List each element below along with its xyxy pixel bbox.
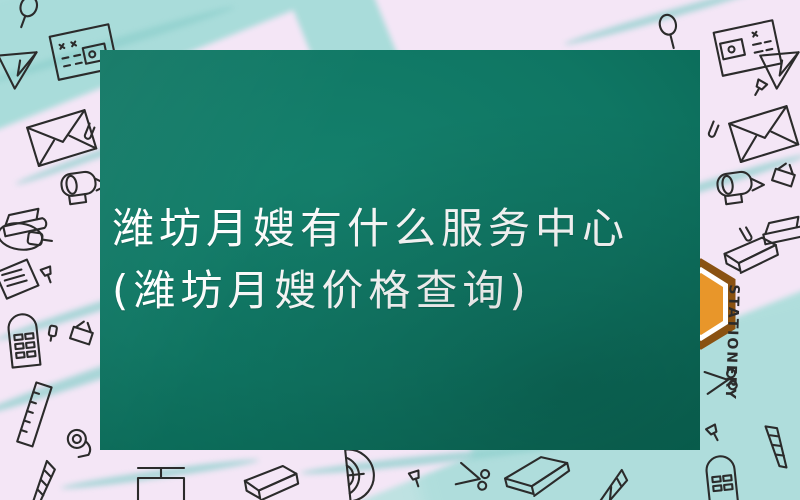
- magnifier-icon: [654, 12, 690, 54]
- poster-canvas: STATIONERY 潍坊月嫂有什么服务中心 (潍坊月嫂价格查询): [0, 0, 800, 500]
- paper-clip-icon: [702, 118, 724, 144]
- scissors-icon: [452, 460, 492, 494]
- protractor-icon: [334, 444, 390, 500]
- push-pin-icon: [44, 322, 62, 344]
- ruler-icon: [12, 380, 60, 452]
- push-pin-icon: [748, 76, 774, 102]
- paper-plane-icon: [0, 40, 50, 96]
- notebook-icon: [238, 462, 308, 500]
- calculator-icon: [700, 452, 748, 500]
- pencil-icon: [758, 418, 800, 474]
- push-pin-icon: [406, 466, 430, 492]
- title-card: 潍坊月嫂有什么服务中心 (潍坊月嫂价格查询): [100, 50, 700, 450]
- desk-lamp-icon: [116, 452, 206, 500]
- push-pin-icon: [704, 420, 728, 446]
- envelope-icon: [728, 106, 800, 164]
- binder-clip-icon: [66, 318, 100, 350]
- binder-clip-icon: [768, 160, 800, 192]
- pencil-icon: [24, 458, 70, 500]
- paper-clip-icon: [78, 120, 100, 146]
- stationery-label: STATIONERY: [704, 283, 742, 388]
- notebook-icon: [500, 452, 580, 500]
- pencil-icon: [592, 466, 638, 500]
- magnifier-icon: [8, 0, 44, 34]
- calculator-icon: [2, 310, 50, 374]
- page-title: 潍坊月嫂有什么服务中心 (潍坊月嫂价格查询): [100, 198, 700, 322]
- push-pin-icon: [38, 262, 62, 288]
